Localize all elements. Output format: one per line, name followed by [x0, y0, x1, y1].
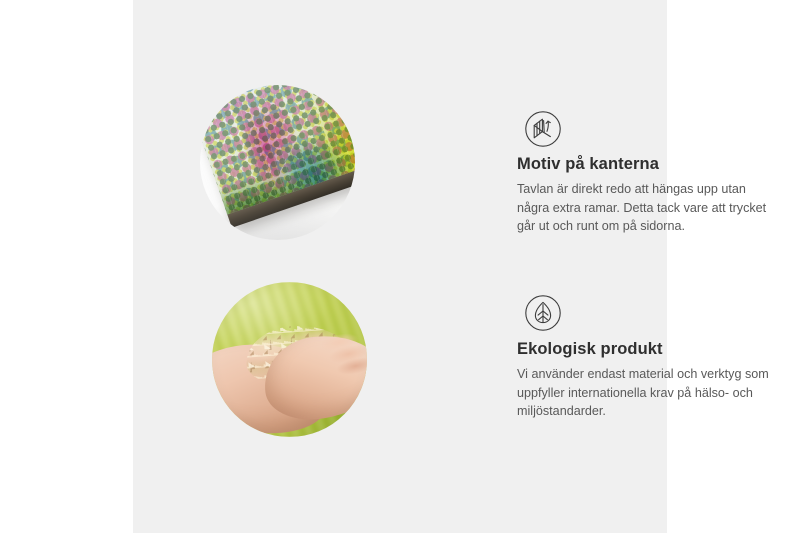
feature-title: Ekologisk produkt [517, 340, 769, 359]
wall-vignette [200, 85, 355, 240]
feature-text-ekologisk-produkt: Ekologisk produkt Vi använder endast mat… [517, 340, 769, 421]
hands-holding-wood-chips-photo [212, 282, 367, 437]
feature-body: Tavlan är direkt redo att hängas upp uta… [517, 180, 769, 236]
feature-panel: Motiv på kanterna Tavlan är direkt redo … [133, 0, 667, 533]
infographic-screenshot: Motiv på kanterna Tavlan är direkt redo … [0, 0, 800, 533]
photo-vignette [212, 282, 367, 437]
feature-title: Motiv på kanterna [517, 155, 769, 174]
canvas-print-corner-photo [200, 85, 355, 240]
feature-text-motiv-pa-kanterna: Motiv på kanterna Tavlan är direkt redo … [517, 155, 769, 236]
leaf-icon [521, 291, 565, 335]
canvas-wrapped-edge-icon [521, 107, 565, 151]
feature-body: Vi använder endast material och verktyg … [517, 365, 769, 421]
